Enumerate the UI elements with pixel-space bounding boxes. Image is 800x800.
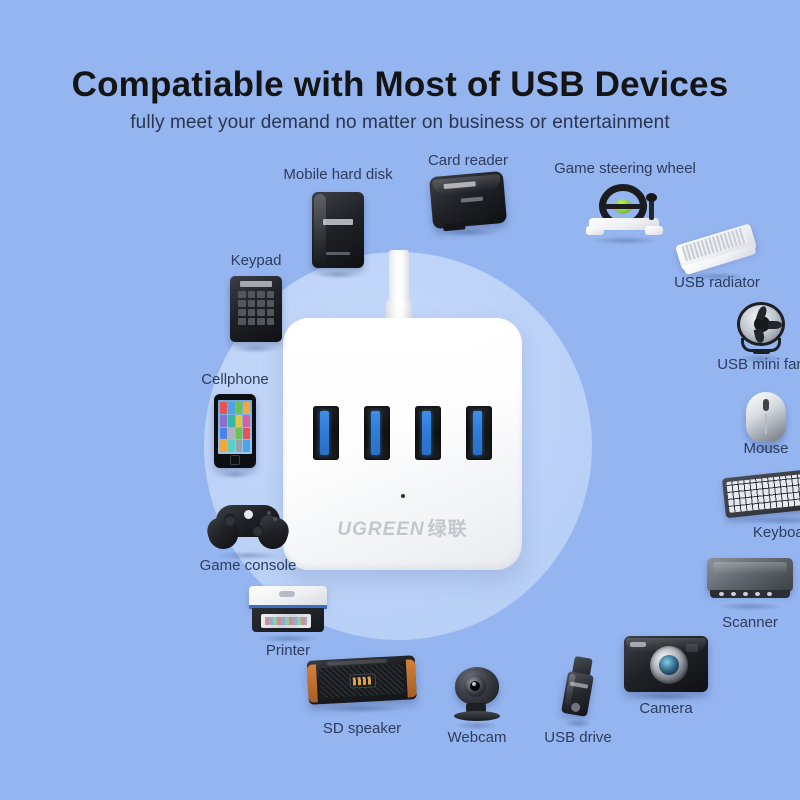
promo-banner: Compatiable with Most of USB Devices ful… xyxy=(0,0,800,800)
device-label-keypad: Keypad xyxy=(156,252,356,269)
usb-radiator-icon xyxy=(678,228,756,272)
page-subtitle: fully meet your demand no matter on busi… xyxy=(0,112,800,134)
brand-name-latin: UGREEN xyxy=(337,519,424,540)
usb-port-1 xyxy=(313,406,339,460)
device-label-camera: Camera xyxy=(566,700,766,717)
keypad-icon xyxy=(230,276,282,342)
mouse-icon xyxy=(746,392,786,442)
page-title: Compatiable with Most of USB Devices xyxy=(0,65,800,105)
usb-drive-icon xyxy=(561,657,595,725)
usb-hub-product: UGREEN绿联 xyxy=(283,318,522,570)
card-reader-icon xyxy=(431,174,505,226)
device-label-usb-drive: USB drive xyxy=(478,729,678,746)
scanner-icon xyxy=(707,558,793,606)
power-led-indicator xyxy=(401,494,405,498)
webcam-icon xyxy=(450,667,504,725)
brand-name-cjk: 绿联 xyxy=(428,519,468,540)
device-label-printer: Printer xyxy=(188,642,388,659)
usb-port-row xyxy=(313,406,492,460)
keyboard-icon xyxy=(724,472,800,518)
sd-speaker-icon xyxy=(308,658,416,710)
printer-icon xyxy=(249,586,327,638)
game-steering-wheel-icon xyxy=(583,184,667,240)
usb-mini-fan-icon xyxy=(733,302,789,356)
usb-port-3 xyxy=(415,406,441,460)
usb-port-4 xyxy=(466,406,492,460)
cellphone-icon xyxy=(214,394,256,468)
game-console-icon xyxy=(208,501,288,551)
device-label-scanner: Scanner xyxy=(650,614,800,631)
brand-logo: UGREEN绿联 xyxy=(283,514,522,541)
camera-icon xyxy=(624,636,708,694)
usb-port-2 xyxy=(364,406,390,460)
device-label-game-steering-wheel: Game steering wheel xyxy=(525,160,725,177)
device-label-keyboard: Keyboard xyxy=(685,524,800,541)
device-label-cellphone: Cellphone xyxy=(135,371,335,388)
